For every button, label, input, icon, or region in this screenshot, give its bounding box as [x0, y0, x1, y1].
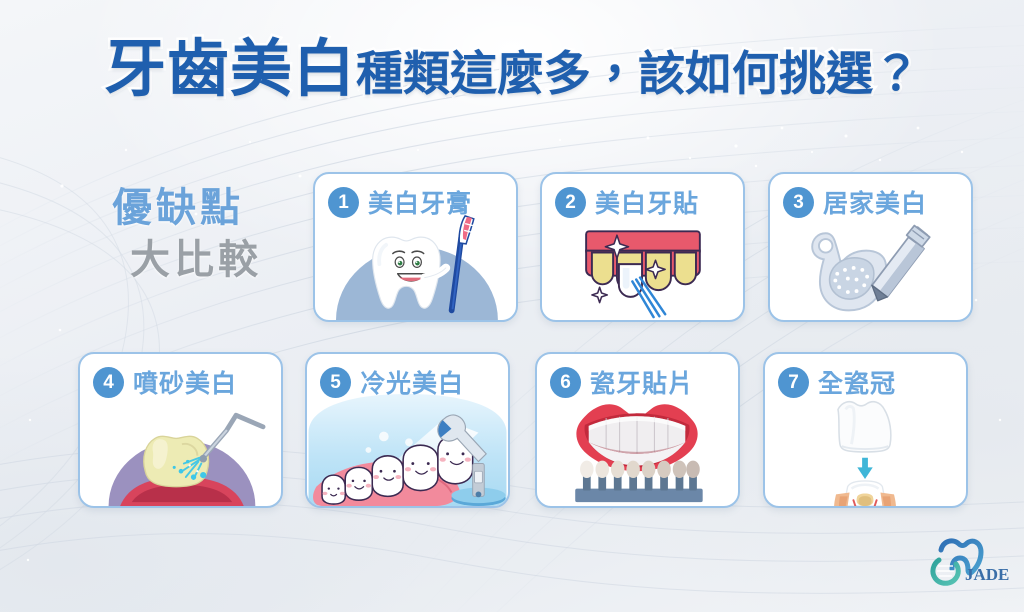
card-whitening-toothpaste[interactable]: 1 美白牙膏 [313, 172, 518, 322]
card-title: 冷光美白 [360, 364, 464, 400]
card-header: 7 全瓷冠 [778, 364, 896, 400]
card-header: 5 冷光美白 [320, 364, 464, 400]
page-title-emphasis: 牙齒美白 [104, 35, 356, 104]
card-title: 美白牙膏 [368, 184, 472, 220]
card-header: 1 美白牙膏 [328, 184, 472, 220]
card-number-badge: 7 [778, 367, 809, 398]
card-title: 瓷牙貼片 [590, 364, 694, 400]
page-title-rest: 種類這麼多，該如何挑選？ [356, 47, 920, 100]
card-cold-light-whitening[interactable]: 5 冷光美白 [305, 352, 510, 508]
card-header: 3 居家美白 [783, 184, 927, 220]
card-number-badge: 3 [783, 187, 814, 218]
card-header: 2 美白牙貼 [555, 184, 699, 220]
card-home-whitening[interactable]: 3 居家美白 [768, 172, 973, 322]
comparison-label-line2: 大比較 [130, 234, 322, 286]
card-number-badge: 5 [320, 367, 351, 398]
illustration-cold-light-lamp-with-teeth-characters [307, 394, 508, 506]
card-header: 4 噴砂美白 [93, 364, 237, 400]
comparison-label-line1: 優缺點 [112, 182, 322, 234]
card-number-badge: 1 [328, 187, 359, 218]
card-air-polishing-whitening[interactable]: 4 噴砂美白 [78, 352, 283, 508]
card-header: 6 瓷牙貼片 [550, 364, 694, 400]
illustration-air-polishing-spray-on-molar [80, 394, 281, 506]
logo-text: JADE [965, 565, 1009, 584]
card-title: 全瓷冠 [818, 364, 896, 400]
infographic-canvas: 牙齒美白種類這麼多，該如何挑選？ 優缺點 大比較 1 美白牙膏 [0, 0, 1024, 612]
illustration-whitening-strip-on-teeth [542, 214, 743, 320]
card-number-badge: 4 [93, 367, 124, 398]
illustration-ceramic-crown-on-prepared-tooth [765, 394, 966, 506]
card-number-badge: 2 [555, 187, 586, 218]
card-title: 噴砂美白 [133, 364, 237, 400]
brand-logo[interactable]: JADE [925, 536, 1017, 592]
comparison-label: 優缺點 大比較 [112, 182, 322, 286]
illustration-tooth-character-with-toothbrush [315, 214, 516, 320]
card-title: 美白牙貼 [595, 184, 699, 220]
card-porcelain-veneers[interactable]: 6 瓷牙貼片 [535, 352, 740, 508]
illustration-smiling-mouth-with-shade-guide [537, 394, 738, 506]
card-number-badge: 6 [550, 367, 581, 398]
illustration-whitening-tray-with-gel-syringe [770, 214, 971, 320]
card-whitening-strips[interactable]: 2 美白牙貼 [540, 172, 745, 322]
card-all-ceramic-crown[interactable]: 7 全瓷冠 [763, 352, 968, 508]
page-title: 牙齒美白種類這麼多，該如何挑選？ [0, 34, 1024, 110]
card-title: 居家美白 [823, 184, 927, 220]
